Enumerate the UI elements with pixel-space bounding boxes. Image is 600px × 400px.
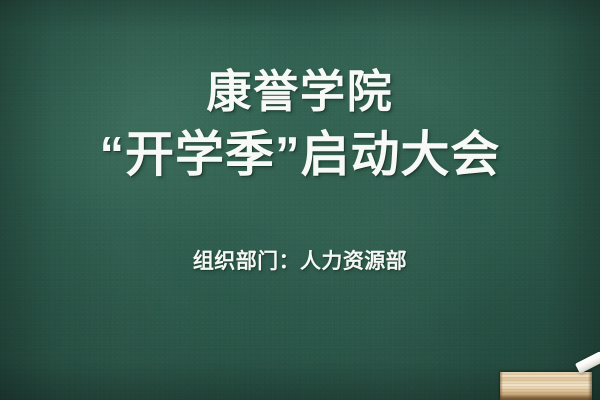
- slide-title-line-1: 康誉学院: [0, 66, 600, 118]
- ledge-right-edge: [588, 372, 592, 400]
- chalk-ledge-icon: [500, 372, 592, 400]
- presentation-slide: 康誉学院 “开学季”启动大会 组织部门：人力资源部: [0, 0, 600, 400]
- slide-title-line-2: “开学季”启动大会: [0, 126, 600, 184]
- slide-subtitle-organizing-department: 组织部门：人力资源部: [0, 248, 600, 276]
- ledge-left-edge: [500, 372, 503, 400]
- wood-grain-texture: [500, 372, 592, 400]
- slide-content: 康誉学院 “开学季”启动大会 组织部门：人力资源部: [0, 0, 600, 400]
